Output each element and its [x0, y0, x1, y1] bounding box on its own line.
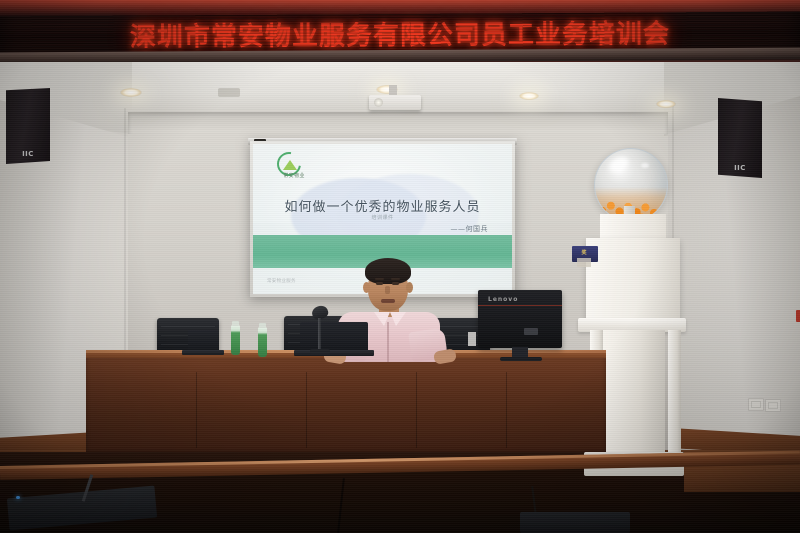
laptop-screen-left	[188, 330, 218, 352]
speaker-ear-left	[363, 282, 370, 293]
podium-top	[586, 238, 680, 320]
monitor-back-label	[524, 328, 538, 335]
speaker-eyebrow-left	[375, 278, 384, 280]
ceiling-recess	[128, 112, 668, 134]
globe-highlight	[607, 154, 631, 175]
slide-subtitle: 培训课件	[253, 214, 512, 221]
wall-outlet-inner	[751, 401, 761, 408]
monitor-accent-line	[478, 305, 562, 306]
water-bottle-2	[258, 327, 267, 357]
logo-text: 常安物业	[271, 172, 317, 179]
podium-small-item	[577, 258, 591, 267]
speaker-logo-left: IIC	[6, 150, 50, 158]
slide-author: ——何国兵	[451, 224, 489, 234]
chair-slat	[161, 326, 215, 327]
bottle-cap-1	[232, 321, 239, 326]
speaker-eye-right	[392, 282, 399, 285]
wall-outlet-2[interactable]	[765, 399, 781, 412]
prize-box-label: 奖	[574, 249, 594, 256]
wall-speaker-right: IIC	[718, 98, 762, 178]
podium-column-right	[668, 330, 681, 472]
speaker-logo-right: IIC	[718, 164, 762, 172]
wall-speaker-left: IIC	[6, 88, 50, 164]
desk-panel-seam-3	[416, 372, 417, 448]
globe-highlight-secondary	[641, 163, 649, 168]
logo-leaf-icon	[283, 160, 297, 170]
company-logo: 常安物业	[271, 152, 317, 180]
ceiling-downlight-4	[656, 100, 676, 108]
wall-outlet-inner	[768, 402, 778, 409]
ceiling-downlight-3	[519, 92, 539, 100]
podium-body	[603, 330, 665, 472]
conference-desk-front	[86, 358, 606, 454]
speaker-shirt-placket	[387, 322, 389, 362]
monitor-brand-label: Lenovo	[488, 296, 518, 303]
laptop-screen-center	[300, 322, 368, 352]
keyboard-led-icon	[16, 496, 20, 499]
desk-panel-seam-2	[306, 372, 307, 448]
speaker-hair	[365, 258, 411, 284]
photo-scene: 深圳市常安物业服务有限公司员工业务培训会 IIC IIC 常安物业 如何做一个优…	[0, 0, 800, 533]
speaker-nose	[385, 286, 390, 294]
bottle-cap-2	[259, 323, 266, 328]
desk-panel-seam-1	[196, 372, 197, 448]
laptop-base-left	[182, 350, 224, 355]
monitor-foot	[500, 357, 542, 361]
microphone-stand	[318, 318, 321, 352]
ceiling-downlight-1	[120, 88, 142, 97]
speaker-eyebrow-right	[391, 278, 400, 280]
desk-panel-seam-4	[506, 372, 507, 448]
microphone-base	[310, 349, 330, 354]
ceiling-vent	[218, 88, 240, 97]
water-bottle-1	[231, 325, 240, 355]
projector-lens-icon	[374, 98, 383, 107]
speaker-collar-right	[390, 312, 406, 326]
foreground-device	[520, 512, 630, 533]
slide-footnote: 常安物业服务	[267, 278, 296, 284]
speaker-mouth	[381, 299, 395, 303]
speaker-eye-left	[376, 282, 383, 285]
slide-title: 如何做一个优秀的物业服务人员	[253, 196, 512, 215]
fire-alarm-indicator	[796, 310, 800, 322]
speaker-ear-right	[406, 282, 413, 293]
monitor-side-tag	[468, 332, 476, 346]
led-banner: 深圳市常安物业服务有限公司员工业务培训会	[0, 0, 800, 62]
laptop-base-center	[294, 350, 374, 356]
wall-outlet-1[interactable]	[748, 398, 764, 411]
